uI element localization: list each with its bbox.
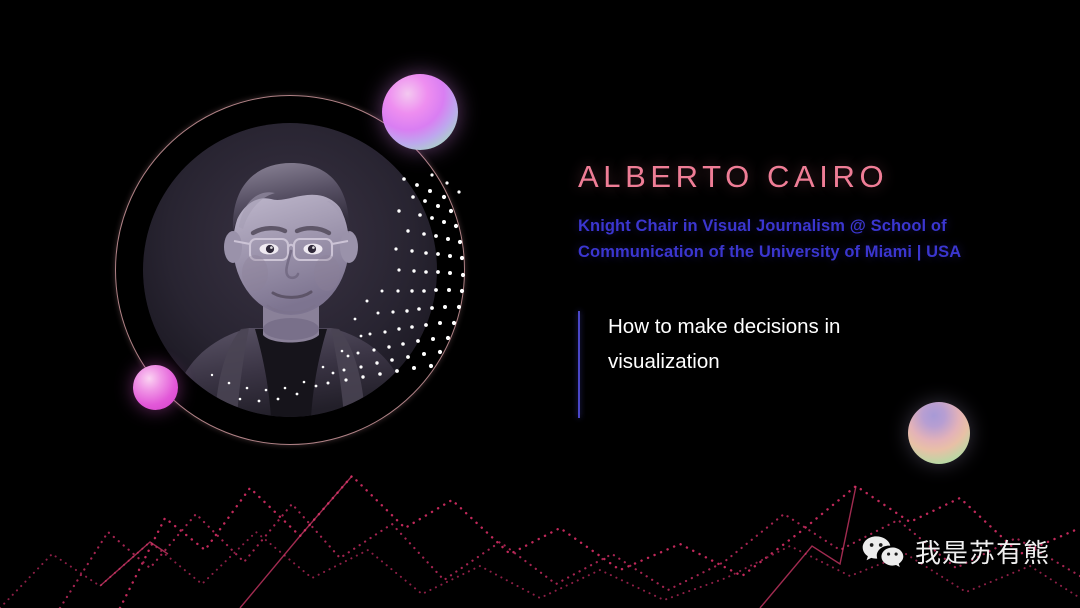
gradient-sphere-left xyxy=(133,365,178,410)
speaker-role-line-1: Knight Chair in Visual Journalism @ Scho… xyxy=(578,214,1048,240)
avatar-image xyxy=(143,123,437,417)
speaker-avatar xyxy=(143,123,437,417)
talk-title-block: How to make decisions in visualization xyxy=(578,309,1048,380)
speaker-name: ALBERTO CAIRO xyxy=(578,160,1048,194)
watermark: 我是苏有熊 xyxy=(862,533,1050,570)
portrait-illustration xyxy=(143,123,437,417)
gradient-sphere-top xyxy=(382,74,458,150)
talk-title-line-2: visualization xyxy=(608,350,720,373)
speaker-info-block: ALBERTO CAIRO Knight Chair in Visual Jou… xyxy=(578,160,1048,380)
talk-title: How to make decisions in visualization xyxy=(608,309,938,380)
talk-title-line-1: How to make decisions in xyxy=(608,315,840,338)
gradient-sphere-right xyxy=(908,402,970,464)
speaker-role: Knight Chair in Visual Journalism @ Scho… xyxy=(578,214,1048,265)
wechat-icon xyxy=(862,535,904,569)
speaker-role-line-2: Communication of the University of Miami… xyxy=(578,240,1048,266)
watermark-text: 我是苏有熊 xyxy=(915,533,1050,570)
slide-canvas: ALBERTO CAIRO Knight Chair in Visual Jou… xyxy=(0,0,1080,608)
title-accent-bar xyxy=(578,311,580,418)
